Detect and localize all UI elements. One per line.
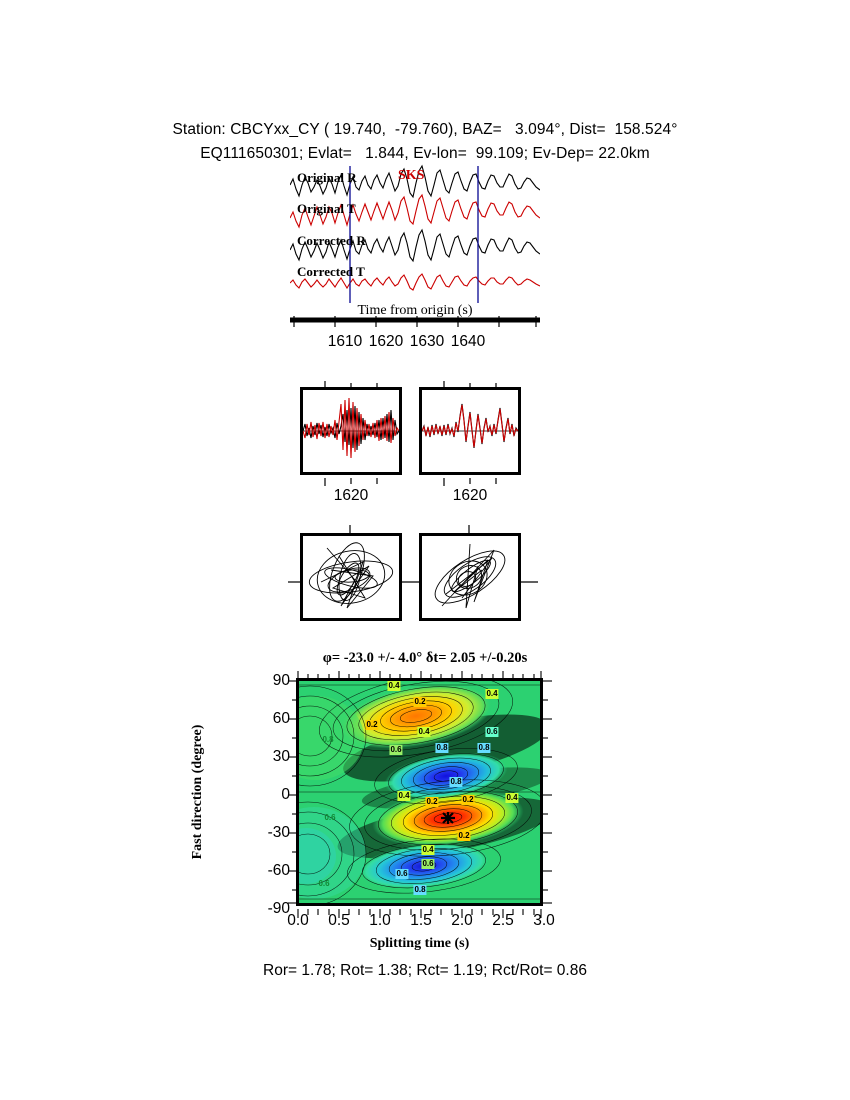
middle-panel-ticks [300, 378, 550, 388]
middle-panel-ticks-lower [300, 475, 550, 485]
particle-motion-uncorrected [303, 536, 399, 618]
middle-panel-label-left: 1620 [300, 487, 402, 505]
fast-slow-traces-uncorrected [303, 390, 399, 472]
y-tick-4: -30 [268, 824, 290, 842]
middle-panel-label-right: 1620 [419, 487, 521, 505]
x-tick-6: 3.0 [533, 912, 555, 930]
x-tick-3: 1.5 [410, 912, 432, 930]
trace-label-original-t: Original T [297, 201, 356, 217]
contour-top-ticks [296, 668, 543, 678]
x-tick-0: 0.0 [287, 912, 309, 930]
fast-slow-traces-corrected [422, 390, 518, 472]
particle-motion-box-corrected[interactable] [419, 533, 521, 621]
contour-right-ticks [543, 678, 553, 906]
particle-motion-corrected [422, 536, 518, 618]
time-tick-2: 1630 [410, 333, 444, 351]
x-tick-5: 2.5 [492, 912, 514, 930]
x-tick-2: 1.0 [369, 912, 391, 930]
fast-slow-waveform-box-uncorrected[interactable] [300, 387, 402, 475]
x-tick-1: 0.5 [328, 912, 350, 930]
header-line-station: Station: CBCYxx_CY ( 19.740, -79.760), B… [0, 118, 850, 142]
time-axis [290, 316, 540, 330]
time-tick-1: 1620 [369, 333, 403, 351]
contour-y-axis-label: Fast direction (degree) [190, 682, 210, 902]
particle-motion-crosshairs [288, 524, 548, 536]
particle-motion-box-uncorrected[interactable] [300, 533, 402, 621]
contour-left-ticks [288, 678, 298, 906]
contour-title: φ= -23.0 +/- 4.0° δt= 2.05 +/-0.20s [250, 650, 600, 667]
trace-label-corrected-t: Corrected T [297, 264, 365, 280]
quality-metrics-footer: Ror= 1.78; Rot= 1.38; Rct= 1.19; Rct/Rot… [0, 962, 850, 980]
splitting-misfit-contour-plot[interactable]: 0.4 0.4 0.2 0.2 0.4 0.6 0.8 0.6 0.8 0.8 … [296, 678, 543, 906]
trace-label-original-r: Original R [297, 170, 357, 186]
sks-phase-label: SKS [398, 168, 424, 184]
time-tick-3: 1640 [451, 333, 485, 351]
trace-label-corrected-r: Corrected R [297, 233, 366, 249]
figure-header: Station: CBCYxx_CY ( 19.740, -79.760), B… [0, 118, 850, 166]
contour-x-axis-label: Splitting time (s) [296, 936, 543, 952]
fast-slow-waveform-box-corrected[interactable] [419, 387, 521, 475]
particle-motion-side-ticks [288, 571, 550, 575]
contour-plot-frame [296, 678, 543, 906]
y-tick-5: -60 [268, 862, 290, 880]
x-tick-4: 2.0 [451, 912, 473, 930]
time-tick-0: 1610 [328, 333, 362, 351]
